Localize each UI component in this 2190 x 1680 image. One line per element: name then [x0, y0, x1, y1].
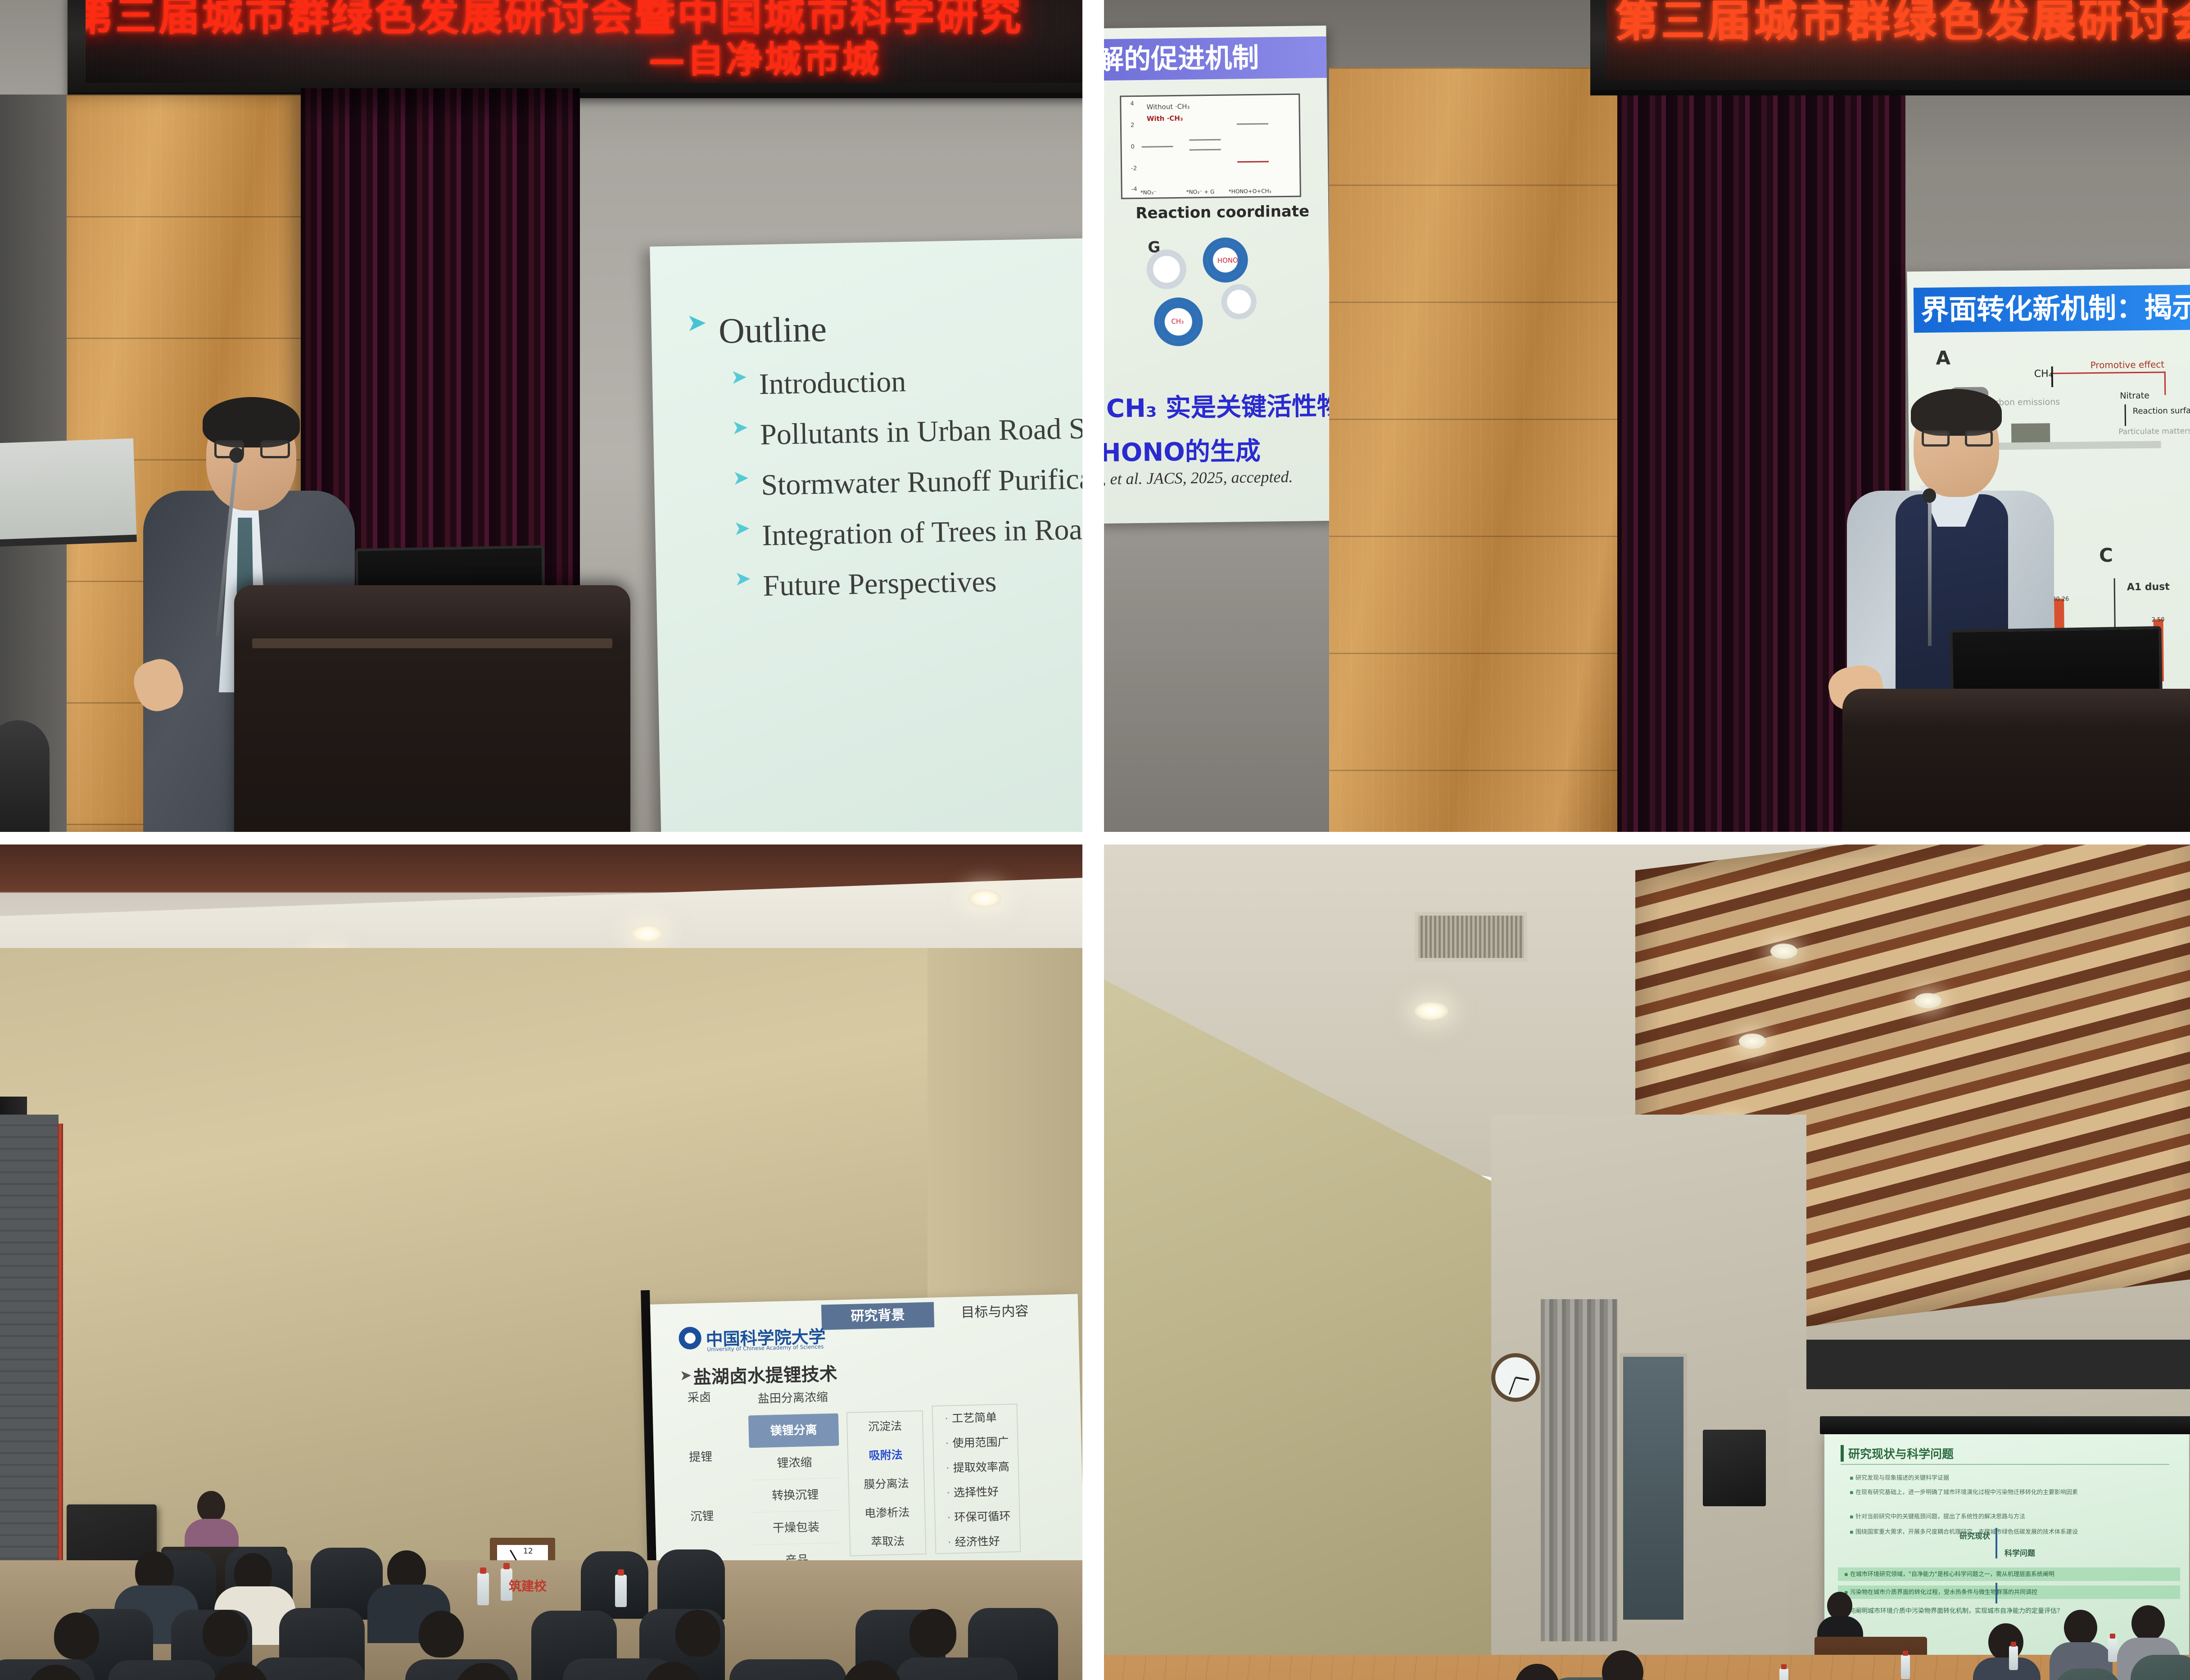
slide-left-blue-line2: HONO的生成 — [1104, 429, 1332, 469]
divider-bar — [1995, 1528, 1997, 1558]
secondary-projection-screen — [0, 438, 137, 547]
attendee-head — [675, 1610, 720, 1657]
microphone-icon — [1928, 497, 1932, 646]
slide-item-label: Stormwater Runoff Purification — [761, 461, 1082, 502]
slide-tab-inactive: 目标与内容 — [961, 1300, 1029, 1321]
panel-letter-c: C — [2099, 544, 2113, 566]
water-bottle — [2108, 1638, 2117, 1662]
clock-hour-hand — [1516, 1377, 1529, 1381]
chevron-bullet-icon: ➤ — [733, 519, 751, 538]
attendee-head — [2064, 1610, 2097, 1646]
attendee-head — [419, 1611, 464, 1657]
attendee-head — [909, 1609, 956, 1657]
attendee-head — [1515, 1664, 1560, 1680]
led-banner-screen: 第三届城市群绿色发展研讨会暨中国城市科学研究 —自净城市城 — [86, 0, 1082, 83]
water-bottle — [1779, 1668, 1788, 1680]
clock-minute-hand — [1509, 1377, 1516, 1395]
diagram-label-particulate: Particulate matters — [2118, 427, 2190, 436]
advantage-item: 提取效率高 — [934, 1454, 1018, 1481]
ceiling-downlight — [1770, 944, 1797, 959]
x-state: *NO₃⁻ — [1140, 189, 1157, 195]
flow-step: 锂浓缩 — [749, 1446, 840, 1481]
slide-heading-row: ➤ Outline — [686, 303, 1082, 352]
attendee — [1973, 1623, 2041, 1680]
attendee-head — [1988, 1623, 2023, 1661]
x-state: *HONO+O+CH₃ — [1229, 188, 1271, 194]
slide-item: ➤ Future Perspectives — [734, 562, 1082, 604]
attendee-head — [1602, 1650, 1643, 1680]
x-state: *NO₃⁻ + G — [1186, 189, 1215, 195]
water-bottle — [1901, 1655, 1910, 1679]
slide-left-header: 解的促进机制 — [1104, 36, 1327, 81]
ceiling-downlight — [630, 925, 664, 943]
attendee-torso — [1973, 1657, 2041, 1680]
slide-right-header: 界面转化新机制：揭示温 — [1914, 285, 2190, 333]
attendee-head — [203, 1610, 248, 1657]
y-tick: -4 — [1131, 186, 1137, 193]
water-bottle — [477, 1573, 489, 1605]
stage-label: 提锂 — [689, 1450, 722, 1465]
slide-left-citation: , et al. JACS, 2025, accepted. — [1104, 467, 1293, 488]
reaction-coordinate-label: Reaction coordinate — [1136, 202, 1309, 222]
lectern-podium — [234, 585, 630, 832]
flow-step: 盐田分离浓缩 — [747, 1381, 838, 1416]
method-item: 沉淀法 — [847, 1411, 923, 1442]
y-tick: 4 — [1130, 100, 1134, 107]
eyeglasses-icon — [1922, 430, 1993, 447]
presenter-head — [1827, 1592, 1852, 1620]
slide-heading: Outline — [718, 309, 827, 352]
screen-roller-case — [1820, 1416, 2190, 1434]
y-tick: -2 — [1131, 165, 1137, 172]
slide-item: ➤ Pollutants in Urban Road Stormwater — [732, 411, 1082, 452]
gear-icon-plain-right — [1224, 287, 1254, 317]
audience-area: 筑建校 — [0, 1497, 1082, 1680]
photo-panel-speaker-outline: 第三届城市群绿色发展研讨会暨中国城市科学研究 —自净城市城 ➤ Outline … — [0, 0, 1082, 832]
slide-item: ➤ Introduction — [730, 361, 1082, 402]
method-item: 膜分离法 — [849, 1469, 924, 1499]
audience-chair — [581, 1551, 648, 1619]
photo-panel-conference-room: 研究现状与科学问题 研究发现与现象描述的关键科学证据 在现有研究基础上，进一步明… — [1104, 845, 2190, 1680]
water-bottle — [2009, 1646, 2018, 1670]
slide-label-left: 研究现状 — [1959, 1530, 1990, 1541]
chevron-bullet-icon: ➤ — [732, 418, 749, 437]
y-tick: 2 — [1131, 122, 1134, 129]
audience-chair — [108, 1660, 216, 1680]
speaker-hair — [1911, 389, 2002, 436]
attendee-head — [2131, 1605, 2165, 1641]
promotive-arrow-icon — [2053, 371, 2166, 374]
legend-without-ch3: Without ·CH₃ — [1146, 103, 1190, 111]
chart-title-a1dust: A1 dust — [2127, 581, 2170, 593]
y-tick: 0 — [1131, 144, 1134, 150]
gear-icon-plain-left — [1149, 253, 1183, 286]
ceiling-downlight — [1914, 993, 1941, 1008]
slide-item: ➤ Stormwater Runoff Purification — [733, 461, 1082, 503]
window — [1620, 1353, 1687, 1623]
slide-item-label: Future Perspectives — [763, 565, 997, 603]
slide-item-label: Integration of Trees in Road Infrastruct… — [762, 509, 1082, 553]
water-bottle — [615, 1575, 627, 1607]
slide-item-list: ➤ Introduction ➤ Pollutants in Urban Roa… — [730, 361, 1082, 604]
legend-with-ch3: With ·CH₃ — [1147, 114, 1183, 123]
panel-letter-g: G — [1148, 238, 1160, 256]
led-banner-line1: 第三届城市群绿色发展研讨会暨中国城 — [1615, 0, 2190, 43]
window-curtain — [1541, 1299, 1617, 1641]
slide-item-label: Introduction — [759, 365, 906, 402]
method-item-highlighted: 吸附法 — [848, 1440, 923, 1471]
gear-label-hono: HONO — [1217, 256, 1238, 265]
slide-bottom-text: 如何阐明城市环境介质中污染物界面转化机制，实现城市自净能力的定量评估？ — [1842, 1606, 2063, 1615]
air-vent-icon — [1415, 912, 1527, 962]
diagram-label-promotive: Promotive effect — [2090, 359, 2165, 370]
chevron-bullet-icon: ➤ — [730, 368, 747, 387]
ceiling-downlight — [1415, 1002, 1448, 1020]
projection-slide-left: 解的促进机制 Without ·CH₃ With ·CH₃ 4 2 0 -2 -… — [1104, 26, 1332, 524]
desk-name-sign: 筑建校 — [509, 1576, 547, 1594]
photo-panel-speaker-chemistry: 解的促进机制 Without ·CH₃ With ·CH₃ 4 2 0 -2 -… — [1104, 0, 2190, 832]
gear-label-ch3: CH₃ — [1171, 317, 1184, 325]
led-banner-line1: 第三届城市群绿色发展研讨会暨中国城市科学研究 — [86, 0, 1082, 37]
lectern-podium — [1842, 689, 2190, 832]
projection-slide-outline: ➤ Outline ➤ Introduction ➤ Pollutants in… — [650, 238, 1082, 832]
audience-chair — [729, 1659, 846, 1680]
panel-letter-a: A — [1936, 347, 1950, 369]
slide-left-blue-line1: ·CH₃ 实是关键活性物种 — [1104, 386, 1332, 425]
photo-collage: 第三届城市群绿色发展研讨会暨中国城市科学研究 —自净城市城 ➤ Outline … — [0, 0, 2190, 1680]
ceiling-downlight — [1739, 1034, 1766, 1049]
university-logo-icon — [679, 1327, 701, 1350]
slide-item-label: Pollutants in Urban Road Stormwater — [760, 409, 1082, 452]
slide-title-rule — [1841, 1464, 2169, 1465]
wall-clock — [1491, 1353, 1540, 1402]
advantage-item: 工艺简单 — [933, 1405, 1017, 1432]
chevron-bullet-icon: ➤ — [734, 569, 751, 588]
stage-label: 采卤 — [688, 1391, 720, 1405]
attendee — [1491, 1664, 1586, 1680]
wall-loudspeaker — [1703, 1430, 1766, 1506]
diagram-label-reaction-surface: Reaction surface — [2133, 406, 2190, 416]
slide-tab-active: 研究背景 — [821, 1302, 934, 1330]
flow-step-highlighted: 镁锂分离 — [748, 1414, 839, 1448]
energy-profile-chart: Without ·CH₃ With ·CH₃ 4 2 0 -2 -4 *NO₃⁻… — [1120, 94, 1301, 199]
foreground-attendee — [0, 720, 50, 832]
audience-chair — [252, 1657, 365, 1680]
slide-label-right: 科学问题 — [2004, 1547, 2035, 1558]
wood-wall-panel — [1329, 68, 1617, 832]
chevron-bullet-icon: ➤ — [733, 469, 750, 488]
photo-panel-lecture-hall-audience: 12 3 6 9 研究背景 目标与内容 中国科学院大学 University o… — [0, 845, 1082, 1680]
advantage-item: 使用范围广 — [933, 1429, 1018, 1456]
attendee — [1581, 1650, 1667, 1680]
eyeglasses-icon — [214, 440, 290, 458]
chevron-bullet-icon: ➤ — [679, 1367, 692, 1384]
ceiling-downlight — [968, 890, 1001, 908]
audience-chair — [896, 1657, 1018, 1680]
slide-item: ➤ Integration of Trees in Road Infrastru… — [733, 512, 1082, 553]
led-banner-line2: —自净城市城 — [648, 41, 1082, 78]
slide-title: 研究现状与科学问题 — [1841, 1445, 1954, 1462]
diagram-label-nitrate: Nitrate — [2120, 391, 2149, 401]
chevron-bullet-icon: ➤ — [686, 312, 707, 335]
divider-bar — [1995, 1583, 1997, 1603]
led-banner-screen: 第三届城市群绿色发展研讨会暨中国城 — [1606, 0, 2190, 80]
attendee-head — [54, 1612, 99, 1659]
